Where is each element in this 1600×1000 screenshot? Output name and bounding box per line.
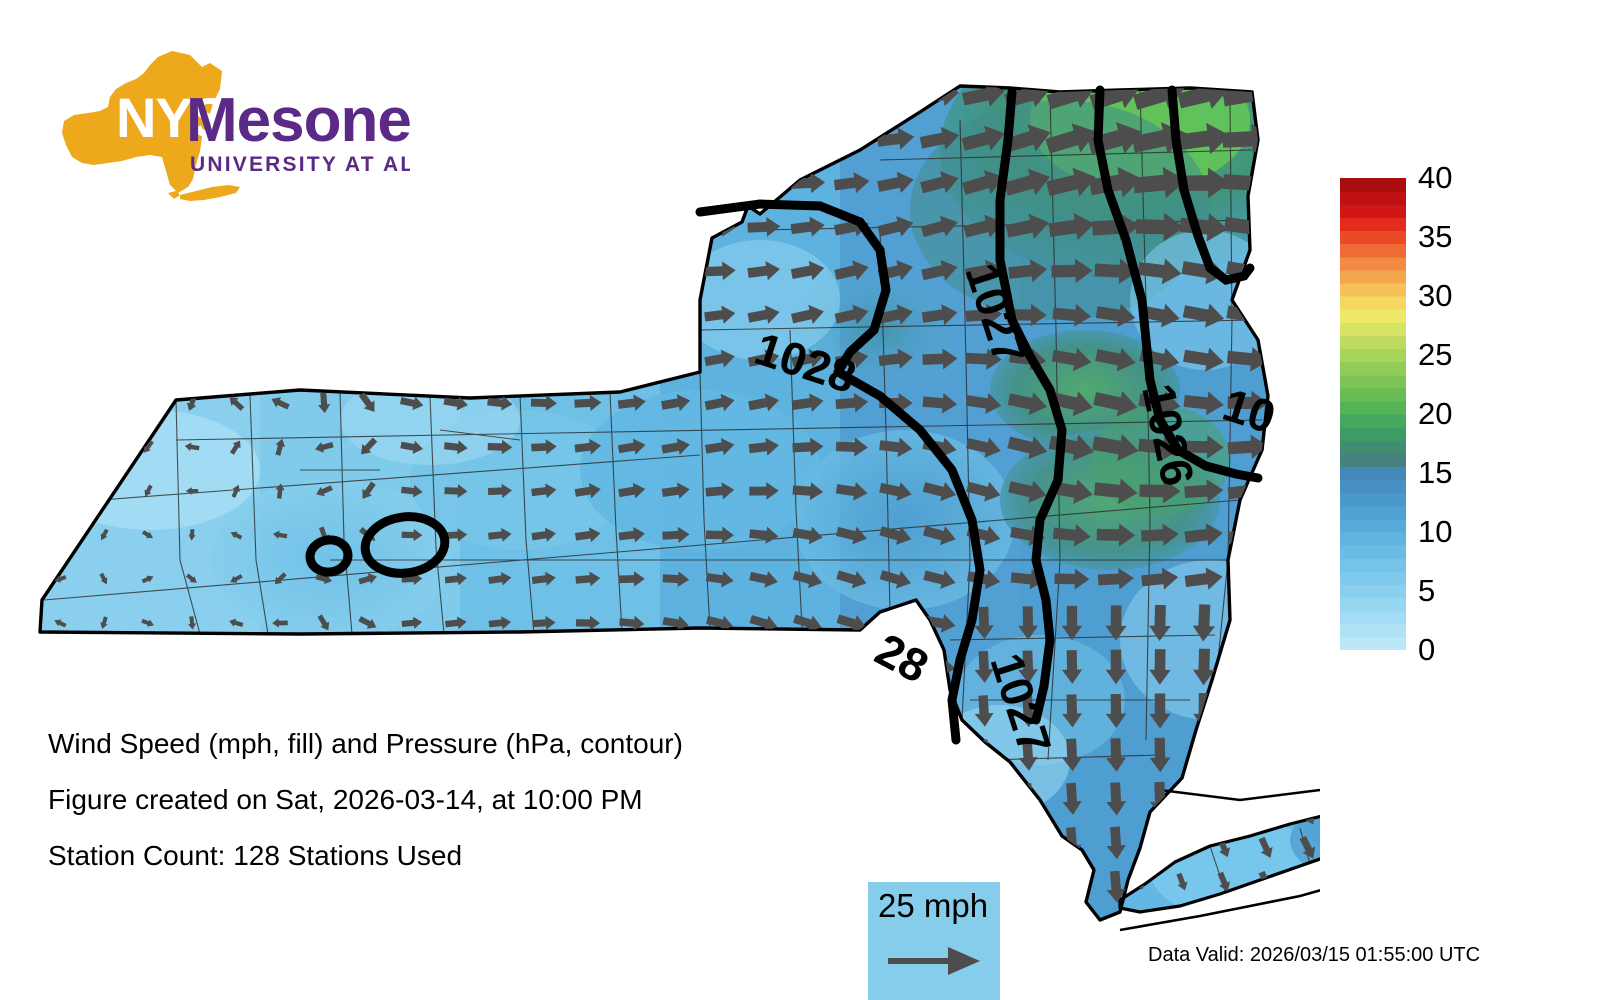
wind-vector-arrow [1256,801,1277,826]
wind-vector-arrow [1061,871,1082,904]
wind-vector-arrow [309,82,338,107]
wind-vector-arrow [229,260,243,282]
wind-vector-arrow [359,656,378,678]
colorbar-band [1340,270,1406,284]
wind-vector-arrow [224,215,248,240]
wind-vector-arrow [882,790,911,808]
wind-vector-arrow [180,218,204,236]
wind-vector-arrow [1236,692,1259,729]
wind-vector-arrow [486,305,515,325]
wind-legend-label: 25 mph [878,886,988,926]
wind-vector-arrow [93,174,115,192]
colorbar-tick-5: 5 [1418,575,1435,606]
wind-vector-arrow [881,746,910,764]
contour-label-28-south: 28 [867,623,937,693]
wind-vector-arrow [485,129,515,150]
figure-caption: Wind Speed (mph, fill) and Pressure (hPa… [48,716,848,884]
wind-vector-arrow [882,834,910,851]
wind-vector-arrow [529,174,559,193]
wind-vector-arrow [486,174,514,191]
wind-vector-arrow [790,128,826,150]
wind-vector-arrow [95,83,112,106]
colorbar-band [1340,558,1406,572]
wind-vector-arrow [1149,826,1171,860]
colorbar-band [1340,283,1406,297]
wind-vector-arrow [572,173,603,194]
wind-vector-arrow [137,216,159,238]
wind-vector-arrow [53,528,67,541]
wind-vector-arrow [573,130,604,149]
wind-vector-arrow [53,483,67,498]
colorbar-band [1340,598,1406,612]
colorbar-band [1340,322,1406,336]
wind-vector-arrow [616,85,648,104]
colorbar-band [1340,637,1406,650]
wind-vector-arrow [96,661,111,672]
wind-vector-arrow [877,83,915,107]
colorbar-band [1340,506,1406,520]
wind-vector-arrow [974,827,995,858]
wind-vector-arrow [230,658,243,675]
wind-vector-arrow [1215,769,1233,792]
wind-vector-arrow [702,83,737,106]
wind-vector-arrow [530,350,558,369]
wind-vector-arrow [529,260,559,281]
colorbar [1340,178,1406,650]
wind-vector-arrow [1193,781,1215,816]
wind-vector-arrow [659,172,693,195]
wind-vector-arrow [138,308,158,322]
wind-vector-arrow [268,306,292,324]
wind-vector-arrow [93,216,115,237]
colorbar-band [1340,440,1406,454]
colorbar-tick-20: 20 [1418,398,1452,429]
wind-vector-arrow [925,746,955,765]
wind-vector-arrow [442,349,469,368]
wind-vector-arrow [51,394,68,412]
wind-vector-arrow [354,86,381,104]
wind-vector-arrow [619,657,646,676]
colorbar-band [1340,362,1406,376]
wind-vector-arrow [616,172,649,194]
colorbar-band [1340,309,1406,323]
wind-vector-arrow [702,127,737,151]
wind-vector-arrow [1193,737,1214,772]
colorbar-band [1340,244,1406,258]
wind-vector-arrow [397,83,428,107]
wind-vector-arrow [136,87,160,104]
wind-vector-arrow [96,440,112,455]
right-arrow-icon [886,944,982,983]
wind-vector-arrow [50,88,71,102]
wind-vector-arrow [271,259,289,284]
colorbar-band [1340,375,1406,389]
wind-vector-arrow [529,305,558,325]
colorbar-band [1340,414,1406,428]
wind-vector-arrow [746,83,782,107]
wind-vector-arrow [746,127,782,150]
wind-vector-arrow [574,350,602,367]
wind-vector-arrow [226,170,246,196]
wind-vector-arrow [573,305,603,325]
wind-vector-arrow [355,350,380,369]
wind-vector-arrow [98,883,109,891]
wind-vector-arrow [789,83,826,107]
wind-vector-arrow [616,216,648,238]
colorbar-band [1340,257,1406,271]
wind-vector-arrow [833,84,870,107]
wind-vector-arrow [355,305,381,324]
wind-vector-arrow [1017,827,1038,859]
colorbar-tick-0: 0 [1418,634,1435,665]
wind-vector-arrow [51,308,70,322]
colorbar-band [1340,388,1406,402]
wind-vector-arrow [355,131,381,147]
wind-vector-arrow [50,133,70,146]
wind-vector-arrow [359,169,378,196]
wind-vector-arrow [137,131,160,147]
wind-vector-arrow [354,214,382,241]
wind-vector-arrow [486,218,515,237]
wind-vector-arrow [53,173,67,193]
wind-vector-arrow [792,655,824,679]
colorbar-band [1340,427,1406,441]
colorbar-band [1340,480,1406,494]
caption-station-count: Station Count: 128 Stations Used [48,828,848,884]
wind-vector-arrow [529,129,559,148]
wind-vector-arrow [311,258,337,284]
wind-vector-arrow [573,260,604,281]
colorbar-band [1340,401,1406,415]
wind-vector-arrow [269,214,290,240]
wind-vector-arrow [749,655,780,679]
wind-vector-arrow [223,85,249,105]
wind-vector-arrow [397,128,427,150]
wind-vector-arrow [484,83,516,107]
colorbar-band [1340,571,1406,585]
wind-vector-arrow [54,660,66,674]
wind-vector-arrow [266,82,294,107]
caption-title: Wind Speed (mph, fill) and Pressure (hPa… [48,716,848,772]
wind-vector-arrow [705,655,735,678]
wind-vector-arrow [399,263,424,279]
wind-vector-arrow [313,169,336,197]
caption-created: Figure created on Sat, 2026-03-14, at 10… [48,772,848,828]
wind-vector-arrow [1236,603,1261,642]
wind-vector-arrow [51,352,69,366]
wind-vector-arrow [659,84,693,105]
wind-vector-arrow [97,485,112,497]
wind-vector-arrow [183,304,201,326]
colorbar-band [1340,178,1406,192]
wind-vector-arrow [572,84,604,105]
wind-vector-arrow [881,701,912,721]
wind-vector-arrow [181,349,203,370]
data-valid-timestamp: Data Valid: 2026/03/15 01:55:00 UTC [1148,944,1480,967]
wind-vector-arrow [661,305,692,324]
wind-vector-arrow [617,350,646,368]
colorbar-band [1340,624,1406,638]
wind-vector-arrow [926,834,955,851]
wind-vector-arrow [225,308,246,321]
wind-vector-arrow [139,171,156,194]
colorbar-tick-30: 30 [1418,280,1452,311]
wind-vector-arrow [312,219,337,236]
wind-vector-arrow [532,660,555,675]
wind-vector-arrow [442,174,470,193]
wind-vector-arrow [441,128,471,150]
colorbar-band [1340,191,1406,205]
colorbar-tick-40: 40 [1418,162,1452,193]
wind-vector-arrow [399,306,425,324]
wind-vector-arrow [314,658,335,677]
wind-vector-arrow [445,660,467,674]
wind-vector-arrow [358,258,378,285]
wind-vector-arrow [95,394,113,412]
wind-vector-arrow [1237,737,1259,773]
colorbar-band [1340,453,1406,467]
wind-vector-arrow [616,261,647,282]
wind-vector-arrow [486,261,515,281]
wind-vector-arrow [402,660,423,674]
wind-vector-arrow [180,171,204,195]
wind-vector-arrow [141,261,155,282]
wind-reference-vector-legend: 25 mph [868,882,1000,1000]
colorbar-band [1340,204,1406,218]
wind-vector-arrow [1215,803,1233,826]
colorbar-band [1340,230,1406,244]
colorbar-band [1340,519,1406,533]
wind-vector-arrow [399,218,425,235]
wind-vector-arrow [1017,871,1038,903]
wind-vector-arrow [925,790,955,809]
wind-vector-arrow [312,349,337,368]
wind-vector-arrow [1236,648,1260,686]
wind-vector-arrow [53,261,67,280]
colorbar-band [1340,532,1406,546]
colorbar-band [1340,584,1406,598]
wind-vector-arrow [440,83,472,107]
wind-vector-arrow [139,394,157,412]
wind-vector-arrow [489,660,511,674]
colorbar-tick-15: 15 [1418,457,1452,488]
colorbar-band [1340,611,1406,625]
wind-vector-arrow [486,349,514,368]
wind-vector-arrow [1174,804,1190,824]
colorbar-band [1340,335,1406,349]
colorbar-band [1340,217,1406,231]
wind-vector-arrow [442,262,469,280]
wind-vector-arrow [96,349,113,369]
wind-vector-arrow [836,655,868,679]
colorbar-tick-labels: 0510152025303540 [1418,160,1538,670]
wind-vector-arrow [528,84,561,107]
wind-vector-arrow [575,659,600,676]
wind-vector-arrow [266,127,294,151]
wind-vector-arrow [660,216,693,238]
wind-vector-arrow [268,347,292,370]
colorbar-band [1340,296,1406,310]
colorbar-band [1340,493,1406,507]
wind-vector-arrow [267,170,292,197]
colorbar-tick-10: 10 [1418,516,1452,547]
wind-vector-arrow [180,262,203,280]
colorbar-band [1340,545,1406,559]
wind-vector-arrow [1228,565,1269,593]
wind-vector-arrow [311,302,336,328]
wind-vector-arrow [98,306,110,324]
wind-vector-arrow [138,351,159,368]
wind-vector-arrow [443,219,470,235]
wind-vector-arrow [442,305,470,324]
colorbar-band [1340,466,1406,480]
wind-vector-arrow [184,662,199,672]
wind-vector-arrow [529,217,559,238]
colorbar-tick-35: 35 [1418,221,1452,252]
wind-vector-arrow [1256,767,1277,792]
wind-vector-arrow [399,350,425,369]
wind-vector-arrow [96,128,112,150]
wind-vector-arrow [660,261,691,280]
wind-vector-arrow [662,656,691,677]
wind-vector-arrow [225,349,248,368]
wind-vector-arrow [572,216,603,238]
wind-vector-arrow [703,172,737,195]
wind-vector-arrow [52,439,68,455]
wind-vector-arrow [180,82,204,108]
colorbar-gradient [1340,178,1406,650]
wind-vector-arrow [310,126,339,151]
wind-vector-arrow [142,659,154,675]
wind-vector-arrow [747,172,781,193]
wind-vector-arrow [974,783,995,815]
wind-vector-arrow [50,217,71,237]
colorbar-tick-25: 25 [1418,339,1452,370]
colorbar-band [1340,348,1406,362]
wind-vector-arrow [180,126,204,151]
wind-vector-arrow [617,306,647,324]
wind-vector-arrow [275,659,286,676]
wind-vector-arrow [616,128,649,149]
wind-vector-arrow [95,265,114,277]
wind-vector-arrow [659,128,693,151]
wind-vector-arrow [660,348,691,369]
wind-vector-arrow [398,173,426,193]
wind-vector-arrow [223,130,248,149]
